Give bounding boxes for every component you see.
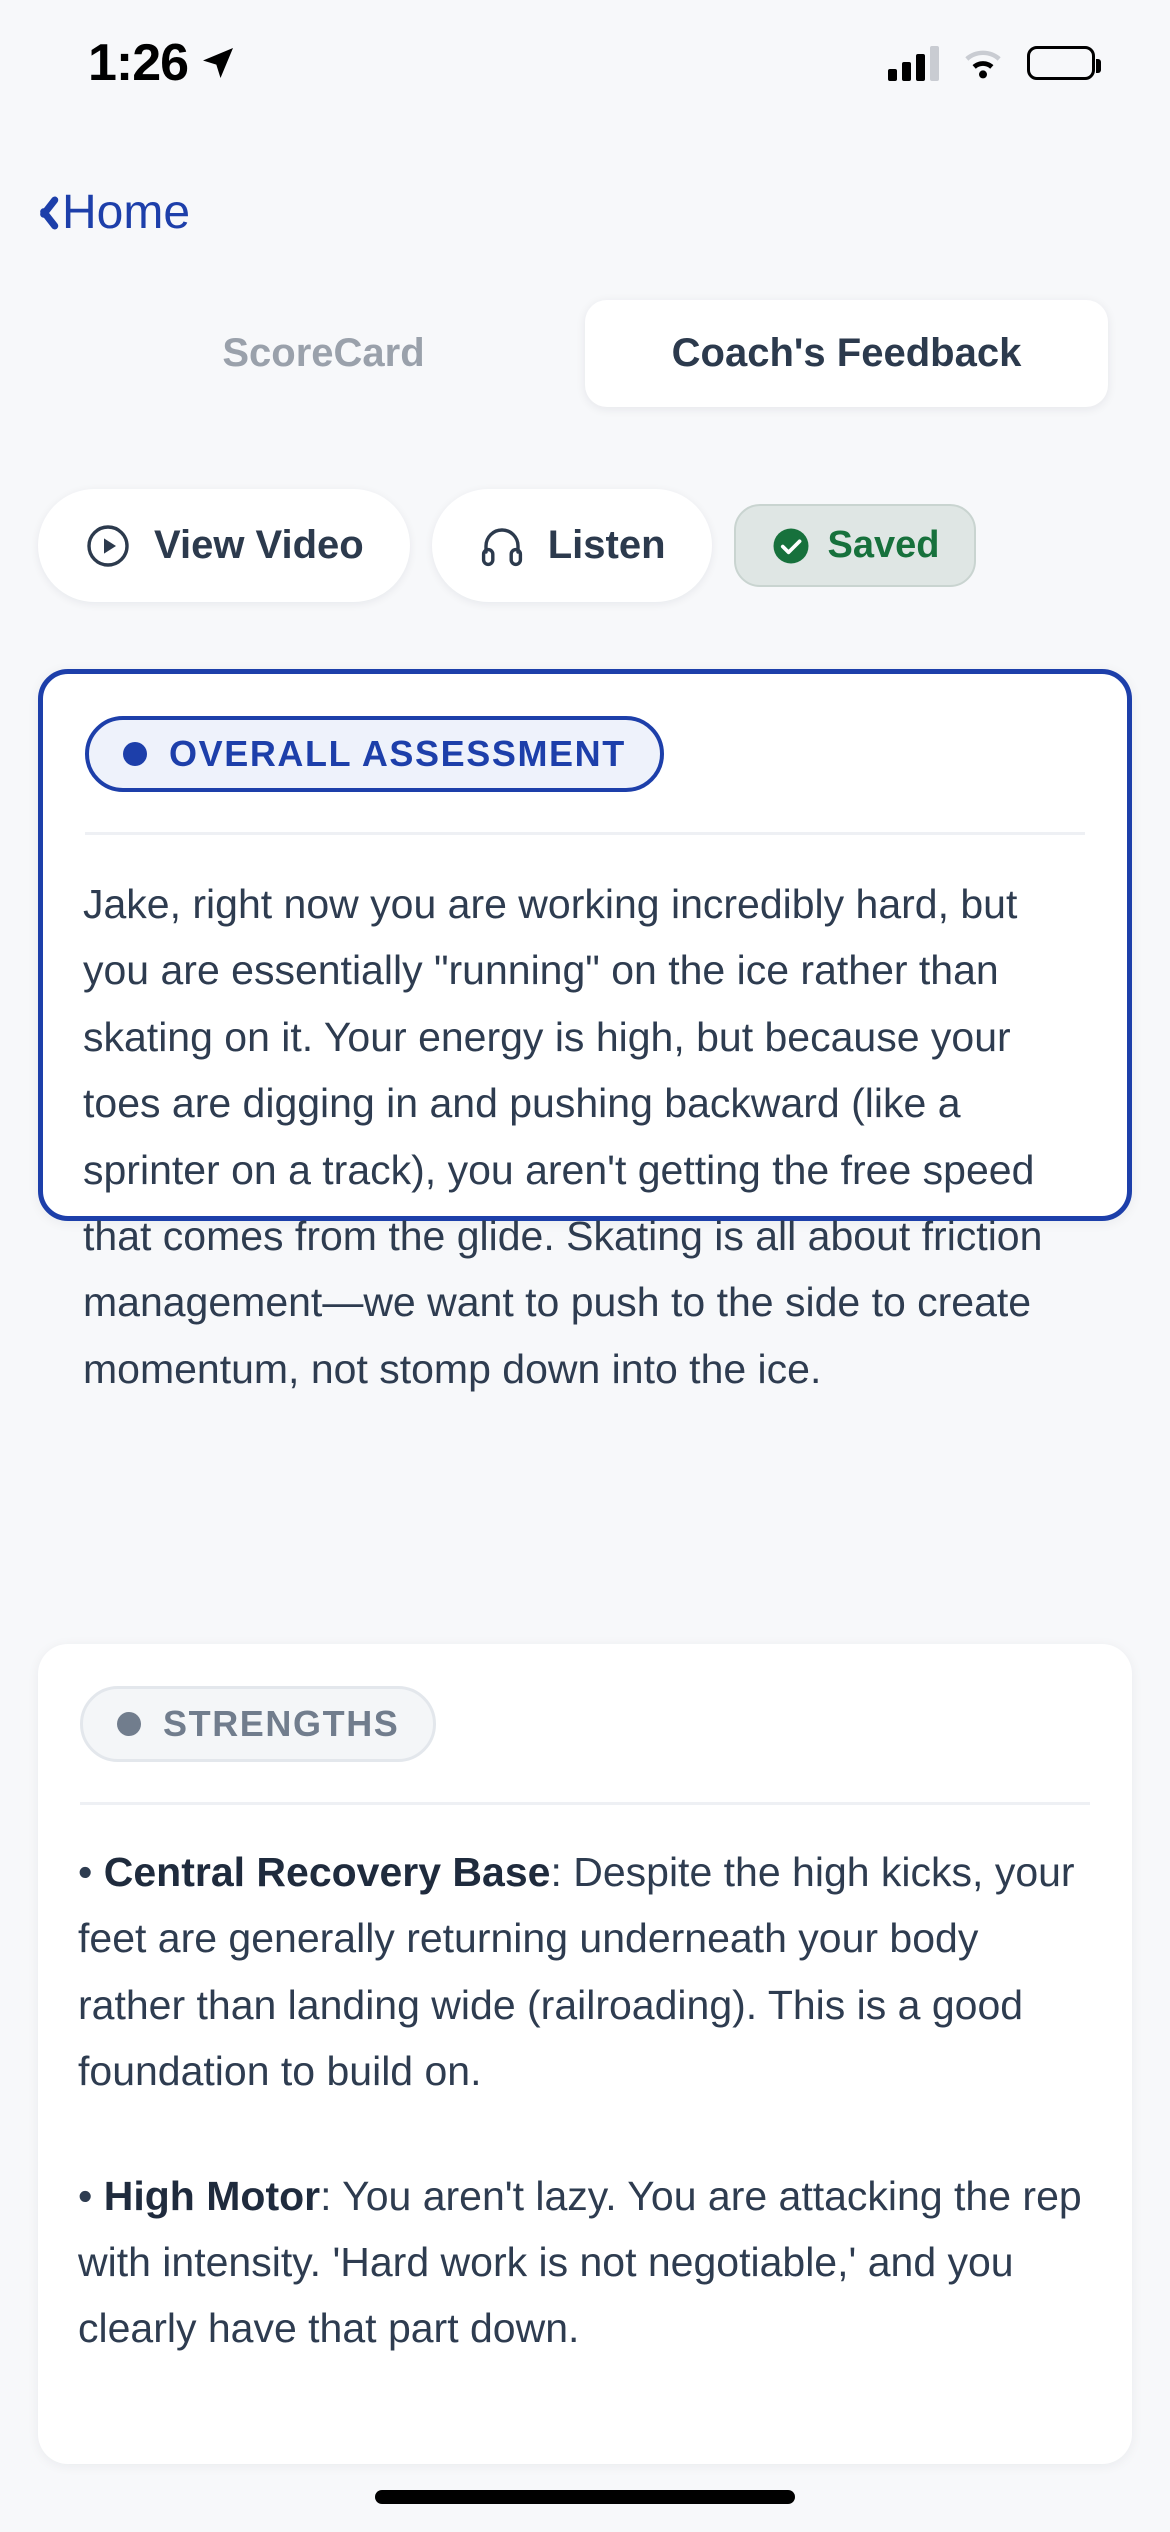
status-bar-time: 1:26 [88, 33, 188, 93]
overall-assessment-badge: OVERALL ASSESSMENT [85, 716, 664, 792]
strengths-header: STRENGTHS [38, 1644, 1132, 1805]
overall-assessment-body: Jake, right now you are working incredib… [43, 835, 1127, 1402]
list-item: • Central Recovery Base: Despite the hig… [38, 1839, 1132, 2105]
chevron-left-icon [28, 191, 54, 235]
status-bar-time-group: 1:26 [88, 33, 238, 93]
status-dot-icon [117, 1712, 141, 1736]
view-video-label: View Video [154, 523, 364, 568]
phone-screen: 1:26 Home ScoreCard Coach's Feedback [0, 0, 1170, 2532]
wifi-icon [959, 44, 1007, 82]
back-button[interactable]: Home [28, 185, 190, 240]
bullet-marker: • [78, 2173, 92, 2219]
status-bar: 1:26 [0, 0, 1170, 125]
tab-coachs-feedback[interactable]: Coach's Feedback [585, 300, 1108, 407]
overall-assessment-header: OVERALL ASSESSMENT [43, 674, 1127, 835]
overall-assessment-card: OVERALL ASSESSMENT Jake, right now you a… [38, 669, 1132, 1221]
tab-scorecard[interactable]: ScoreCard [62, 300, 585, 407]
cellular-bars-icon [888, 45, 939, 81]
strengths-body: • Central Recovery Base: Despite the hig… [38, 1805, 1132, 2362]
tab-coachs-feedback-label: Coach's Feedback [672, 331, 1022, 376]
check-circle-icon [770, 525, 812, 567]
status-dot-icon [123, 742, 147, 766]
view-video-button[interactable]: View Video [38, 489, 410, 602]
strengths-badge-label: STRENGTHS [163, 1703, 399, 1745]
bullet-marker: • [78, 1849, 92, 1895]
play-circle-icon [84, 522, 132, 570]
saved-button[interactable]: Saved [734, 504, 976, 587]
battery-full-icon [1027, 46, 1095, 80]
overall-assessment-badge-label: OVERALL ASSESSMENT [169, 733, 626, 775]
back-button-label: Home [62, 185, 190, 240]
listen-label: Listen [548, 523, 666, 568]
action-button-row: View Video Listen Saved [38, 489, 1132, 602]
bullet-title: Central Recovery Base [104, 1849, 551, 1895]
strengths-card: STRENGTHS • Central Recovery Base: Despi… [38, 1644, 1132, 2464]
bullet-title: High Motor [104, 2173, 320, 2219]
saved-label: Saved [828, 524, 940, 567]
tab-scorecard-label: ScoreCard [222, 331, 424, 376]
headphones-icon [478, 522, 526, 570]
tab-bar: ScoreCard Coach's Feedback [62, 300, 1108, 407]
location-arrow-icon [198, 43, 238, 83]
status-bar-indicators [888, 44, 1095, 82]
list-item: • High Motor: You aren't lazy. You are a… [38, 2163, 1132, 2362]
strengths-badge: STRENGTHS [80, 1686, 436, 1762]
home-indicator[interactable] [375, 2490, 795, 2504]
listen-button[interactable]: Listen [432, 489, 712, 602]
